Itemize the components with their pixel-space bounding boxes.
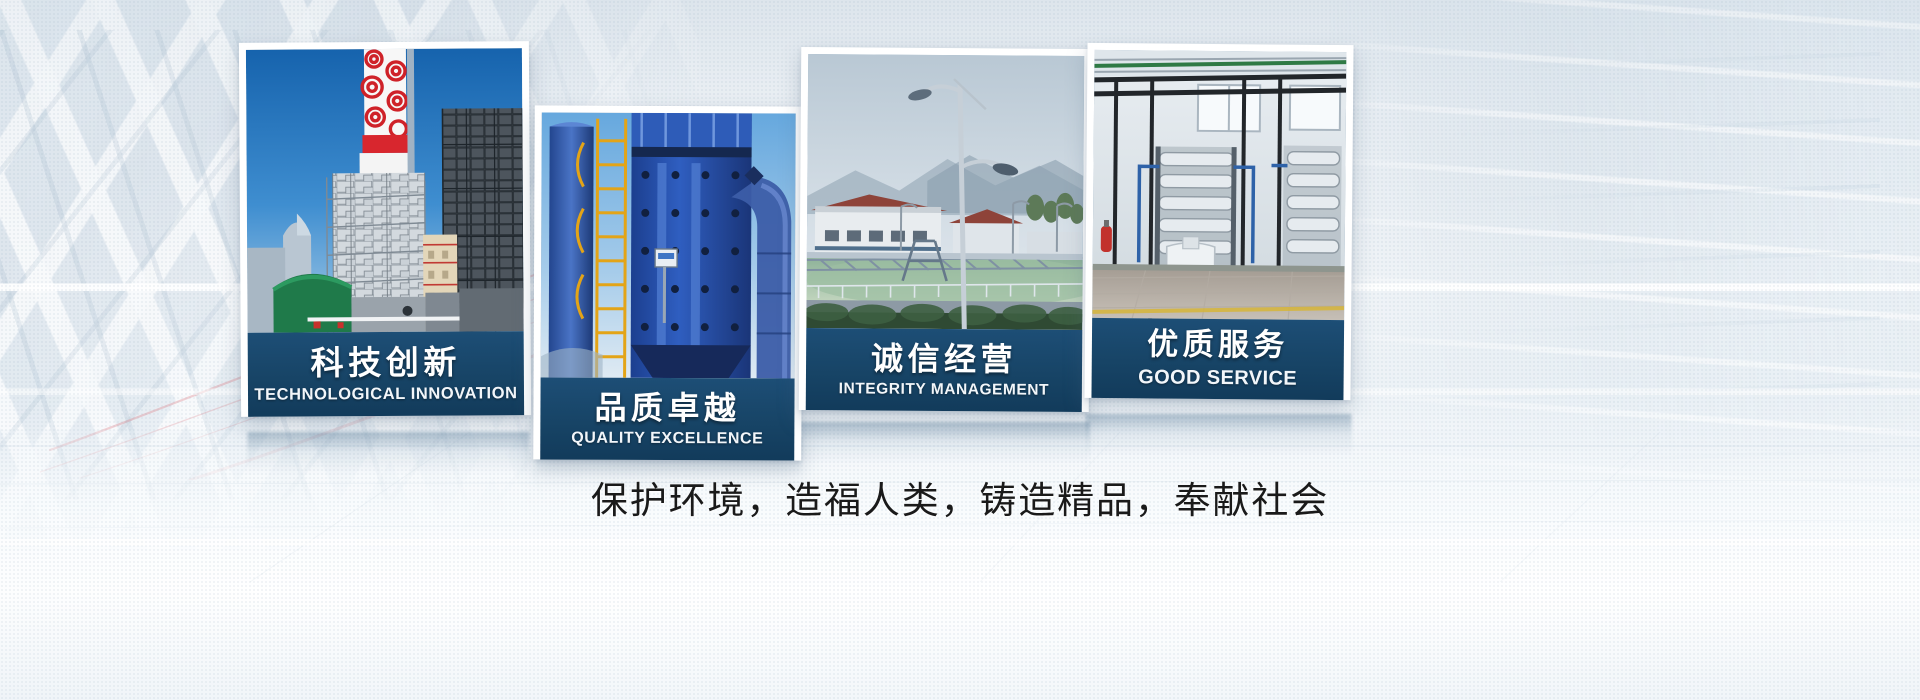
photo-illustration-chimney [246, 48, 524, 333]
photo-illustration-wastewater-plant [806, 54, 1084, 330]
panel-caption-good-service: 优质服务 GOOD SERVICE [1091, 318, 1344, 400]
panel-title-en-4: GOOD SERVICE [1138, 367, 1297, 388]
culture-panel-quality-excellence[interactable]: 品质卓越 QUALITY EXCELLENCE [533, 105, 803, 460]
panel-reflection-4 [1085, 414, 1352, 466]
panel-title-cn-4: 优质服务 [1147, 329, 1289, 361]
panel-title-en-2: QUALITY EXCELLENCE [571, 430, 763, 447]
panel-group: 科技创新 TECHNOLOGICAL INNOVATION [0, 0, 1920, 700]
company-culture-banner: 科技创新 TECHNOLOGICAL INNOVATION [0, 0, 1920, 700]
photo-illustration-dust-collector [541, 112, 796, 378]
photo-illustration-ro-membrane-room [1092, 50, 1346, 320]
panel-reflection-3 [800, 422, 1091, 474]
panel-photo-quality-excellence [541, 112, 796, 378]
panel-photo-good-service [1092, 50, 1346, 320]
panel-title-cn-2: 品质卓越 [594, 391, 740, 424]
panel-title-cn-3: 诚信经营 [871, 342, 1017, 375]
panel-title-en-3: INTEGRITY MANAGEMENT [839, 381, 1049, 398]
panel-title-en-1: TECHNOLOGICAL INNOVATION [254, 385, 517, 403]
banner-tagline: 保护环境，造福人类，铸造精品，奉献社会 [0, 470, 1920, 524]
panel-caption-technological-innovation: 科技创新 TECHNOLOGICAL INNOVATION [248, 331, 525, 417]
panel-photo-technological-innovation [246, 48, 524, 333]
culture-panel-technological-innovation[interactable]: 科技创新 TECHNOLOGICAL INNOVATION [239, 41, 531, 417]
panel-title-cn-1: 科技创新 [310, 345, 461, 379]
culture-panel-integrity-management[interactable]: 诚信经营 INTEGRITY MANAGEMENT [799, 47, 1092, 412]
panel-photo-integrity-management [806, 54, 1084, 330]
culture-panel-good-service[interactable]: 优质服务 GOOD SERVICE [1084, 43, 1353, 400]
panel-caption-quality-excellence: 品质卓越 QUALITY EXCELLENCE [540, 377, 794, 460]
panel-caption-integrity-management: 诚信经营 INTEGRITY MANAGEMENT [806, 328, 1083, 412]
